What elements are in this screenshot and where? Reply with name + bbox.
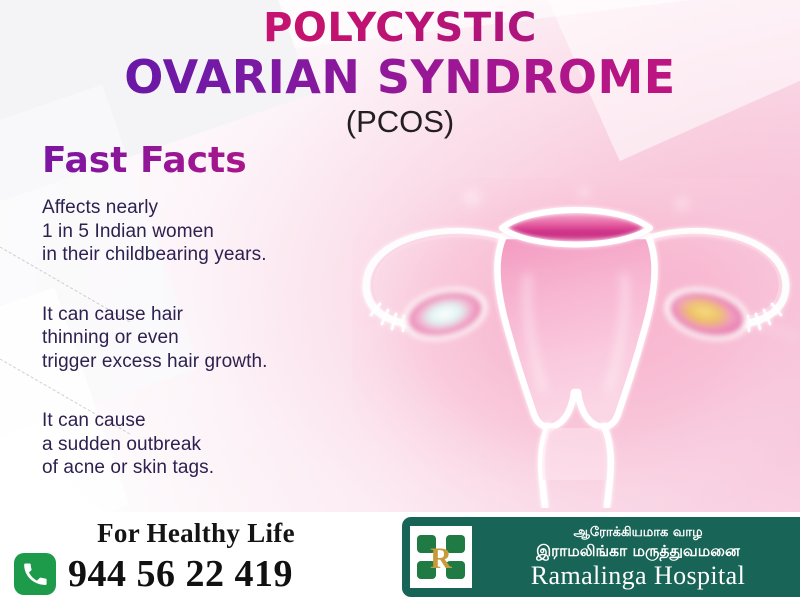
fact-line: 1 in 5 Indian women bbox=[42, 220, 382, 244]
phone-handset-icon[interactable] bbox=[14, 553, 56, 595]
tagline-text: For Healthy Life bbox=[0, 518, 392, 549]
page-title-line2: OVARIAN SYNDROME bbox=[0, 52, 800, 102]
fact-item: It can cause hair thinning or even trigg… bbox=[42, 303, 382, 374]
page-title-abbreviation: (PCOS) bbox=[0, 104, 800, 140]
hospital-tamil-name: இராமலிங்கா மருத்துவமனை bbox=[482, 541, 794, 561]
page-title-line1: POLYCYSTIC bbox=[0, 6, 800, 50]
uterus-ovaries-illustration bbox=[352, 178, 800, 508]
fact-line: in their childbearing years. bbox=[42, 243, 382, 267]
pcos-infographic-poster: POLYCYSTIC OVARIAN SYNDROME (PCOS) Fast … bbox=[0, 0, 800, 600]
hospital-logo: R bbox=[410, 526, 472, 588]
hospital-tamil-tagline: ஆரோக்கியமாக வாழ bbox=[482, 524, 794, 541]
hospital-brand-panel[interactable]: R ஆரோக்கியமாக வாழ இராமலிங்கா மருத்துவமனை… bbox=[402, 517, 800, 597]
fact-line: It can cause bbox=[42, 409, 382, 433]
contact-block: For Healthy Life 944 56 22 419 bbox=[0, 512, 400, 600]
fact-line: thinning or even bbox=[42, 326, 382, 350]
hospital-english-name: Ramalinga Hospital bbox=[482, 561, 794, 590]
fact-item: It can cause a sudden outbreak of acne o… bbox=[42, 409, 382, 480]
fast-facts-heading: Fast Facts bbox=[42, 140, 382, 182]
fact-line: a sudden outbreak bbox=[42, 433, 382, 457]
phone-row[interactable]: 944 56 22 419 bbox=[14, 553, 293, 595]
hospital-name-block: ஆரோக்கியமாக வாழ இராமலிங்கா மருத்துவமனை R… bbox=[482, 524, 800, 590]
fact-item: Affects nearly 1 in 5 Indian women in th… bbox=[42, 196, 382, 267]
fact-line: trigger excess hair growth. bbox=[42, 350, 382, 374]
poster-header: POLYCYSTIC OVARIAN SYNDROME (PCOS) bbox=[0, 6, 800, 140]
svg-text:R: R bbox=[430, 542, 452, 575]
phone-number[interactable]: 944 56 22 419 bbox=[68, 554, 293, 594]
fact-line: Affects nearly bbox=[42, 196, 382, 220]
fact-line: of acne or skin tags. bbox=[42, 456, 382, 480]
fast-facts-section: Fast Facts Affects nearly 1 in 5 Indian … bbox=[42, 140, 382, 480]
poster-footer: For Healthy Life 944 56 22 419 bbox=[0, 512, 800, 600]
fact-line: It can cause hair bbox=[42, 303, 382, 327]
